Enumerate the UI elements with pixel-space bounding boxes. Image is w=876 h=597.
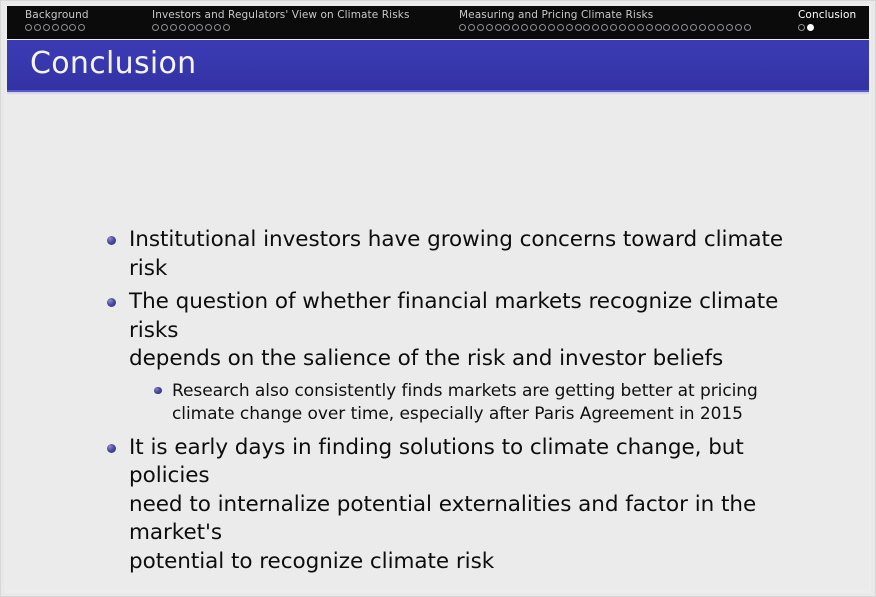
nav-dot[interactable] xyxy=(468,24,475,31)
nav-dot[interactable] xyxy=(503,24,510,31)
nav-dot[interactable] xyxy=(726,24,733,31)
nav-dot[interactable] xyxy=(179,24,186,31)
nav-dot[interactable] xyxy=(188,24,195,31)
slide-canvas: Background Investors and Regulators' Vie… xyxy=(5,4,871,593)
nav-dot[interactable] xyxy=(575,24,582,31)
nav-dot[interactable] xyxy=(477,24,484,31)
nav-dot[interactable] xyxy=(223,24,230,31)
nav-dot[interactable] xyxy=(637,24,644,31)
nav-section-label: Conclusion xyxy=(798,6,856,22)
nav-dot[interactable] xyxy=(557,24,564,31)
nav-dot[interactable] xyxy=(196,24,203,31)
slide-title-bar: Conclusion xyxy=(7,40,869,92)
navigation-bar: Background Investors and Regulators' Vie… xyxy=(7,6,869,39)
nav-dot[interactable] xyxy=(486,24,493,31)
nav-section-conclusion[interactable]: Conclusion xyxy=(798,6,856,39)
bullet-text: It is early days in finding solutions to… xyxy=(129,434,822,577)
nav-dot[interactable] xyxy=(530,24,537,31)
nav-dot[interactable] xyxy=(690,24,697,31)
nav-dot[interactable] xyxy=(205,24,212,31)
bullet-marker-icon xyxy=(107,444,116,453)
nav-dots-measuring xyxy=(459,24,752,36)
nav-section-investors[interactable]: Investors and Regulators' View on Climat… xyxy=(152,6,410,39)
nav-dot[interactable] xyxy=(69,24,76,31)
nav-dot[interactable] xyxy=(610,24,617,31)
nav-dot[interactable] xyxy=(583,24,590,31)
bullet-item: The question of whether financial market… xyxy=(102,288,822,374)
nav-dot[interactable] xyxy=(78,24,85,31)
subbullet-text: Research also consistently finds markets… xyxy=(172,380,822,426)
nav-dot[interactable] xyxy=(681,24,688,31)
bullet-list: Institutional investors have growing con… xyxy=(102,226,822,581)
nav-dot[interactable] xyxy=(214,24,221,31)
nav-dot[interactable] xyxy=(61,24,68,31)
nav-dot[interactable] xyxy=(161,24,168,31)
bullet-text-line: Institutional investors have growing con… xyxy=(129,226,822,283)
nav-dot[interactable] xyxy=(512,24,519,31)
bullet-text-line: potential to recognize climate risk xyxy=(129,548,822,577)
nav-dot[interactable] xyxy=(459,24,466,31)
nav-dot[interactable] xyxy=(25,24,32,31)
title-underline xyxy=(7,92,869,95)
slide-frame: Background Investors and Regulators' Vie… xyxy=(0,0,876,597)
nav-dot[interactable] xyxy=(152,24,159,31)
nav-dot[interactable] xyxy=(699,24,706,31)
nav-section-label: Investors and Regulators' View on Climat… xyxy=(152,6,410,22)
nav-section-background[interactable]: Background xyxy=(25,6,89,39)
nav-dot[interactable] xyxy=(717,24,724,31)
nav-dot[interactable] xyxy=(672,24,679,31)
nav-dot-active[interactable] xyxy=(807,24,814,31)
nav-dot[interactable] xyxy=(663,24,670,31)
nav-dot[interactable] xyxy=(708,24,715,31)
bullet-text-line: need to internalize potential externalit… xyxy=(129,491,822,548)
nav-dot[interactable] xyxy=(548,24,555,31)
nav-dot[interactable] xyxy=(52,24,59,31)
nav-dot[interactable] xyxy=(592,24,599,31)
nav-dot[interactable] xyxy=(646,24,653,31)
nav-section-label: Background xyxy=(25,6,89,22)
nav-dot[interactable] xyxy=(521,24,528,31)
bullet-text-line: depends on the salience of the risk and … xyxy=(129,345,822,374)
nav-dot[interactable] xyxy=(735,24,742,31)
bullet-text: Institutional investors have growing con… xyxy=(129,226,822,283)
nav-dots-conclusion xyxy=(798,24,856,36)
nav-dot[interactable] xyxy=(566,24,573,31)
nav-dot[interactable] xyxy=(744,24,751,31)
slide-body: Institutional investors have growing con… xyxy=(7,96,869,589)
bullet-item: It is early days in finding solutions to… xyxy=(102,434,822,577)
nav-dots-investors xyxy=(152,24,410,36)
nav-section-measuring[interactable]: Measuring and Pricing Climate Risks xyxy=(459,6,752,39)
subbullet-text-line: Research also consistently finds markets… xyxy=(172,380,822,403)
bullet-text-line: It is early days in finding solutions to… xyxy=(129,434,822,491)
nav-dot[interactable] xyxy=(601,24,608,31)
bullet-marker-icon xyxy=(107,236,116,245)
bullet-text: The question of whether financial market… xyxy=(129,288,822,374)
subbullet-list: Research also consistently finds markets… xyxy=(102,380,822,426)
bullet-text-line: The question of whether financial market… xyxy=(129,288,822,345)
nav-dot[interactable] xyxy=(798,24,805,31)
subbullet-text-line: climate change over time, especially aft… xyxy=(172,403,822,426)
nav-dot[interactable] xyxy=(539,24,546,31)
nav-section-label: Measuring and Pricing Climate Risks xyxy=(459,6,752,22)
nav-dot[interactable] xyxy=(34,24,41,31)
nav-dot[interactable] xyxy=(628,24,635,31)
nav-dot[interactable] xyxy=(619,24,626,31)
nav-dot[interactable] xyxy=(170,24,177,31)
bullet-item: Institutional investors have growing con… xyxy=(102,226,822,283)
subbullet-marker-icon xyxy=(154,387,162,395)
nav-dots-background xyxy=(25,24,89,36)
bullet-marker-icon xyxy=(107,298,116,307)
nav-dot[interactable] xyxy=(655,24,662,31)
subbullet-item: Research also consistently finds markets… xyxy=(150,380,822,426)
page-title: Conclusion xyxy=(30,46,197,81)
nav-dot[interactable] xyxy=(495,24,502,31)
nav-dot[interactable] xyxy=(43,24,50,31)
